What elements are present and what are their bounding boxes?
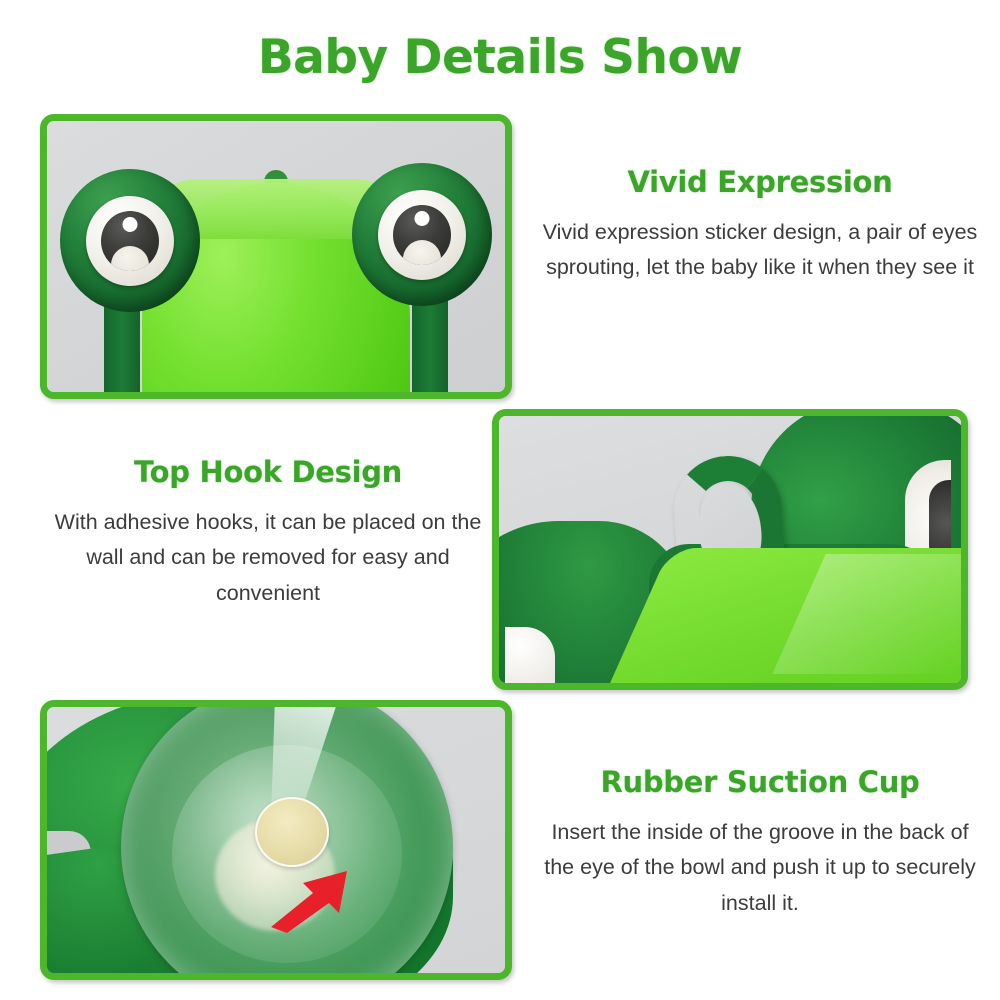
section-body-rubber-suction-cup: Insert the inside of the groove in the b… xyxy=(540,815,980,921)
frog-eye-right xyxy=(352,163,492,306)
top-hook-photo-inner xyxy=(499,416,961,683)
eye-crescent-left xyxy=(111,246,149,271)
section-body-top-hook-design: With adhesive hooks, it can be placed on… xyxy=(38,505,498,611)
details-page: Baby Details Show xyxy=(0,0,1000,1000)
eye-iris-left xyxy=(101,211,159,271)
section-vivid-expression: Vivid Expression Vivid expression sticke… xyxy=(540,165,980,286)
section-heading-vivid-expression: Vivid Expression xyxy=(540,165,980,199)
eye-ring-left xyxy=(86,196,174,286)
page-title: Baby Details Show xyxy=(0,30,1000,85)
frog-eye-left xyxy=(60,169,200,312)
eye-iris-right xyxy=(393,205,451,265)
suction-cup-photo-inner xyxy=(47,707,505,973)
section-rubber-suction-cup: Rubber Suction Cup Insert the inside of … xyxy=(540,765,980,921)
top-hook-photo xyxy=(492,409,968,690)
section-top-hook-design: Top Hook Design With adhesive hooks, it … xyxy=(38,455,498,611)
suction-cup-nub xyxy=(255,797,329,867)
eye-glint-right xyxy=(415,211,430,226)
frog-eyes-photo xyxy=(40,114,512,399)
eye-glint-left xyxy=(123,217,138,232)
suction-cup-photo xyxy=(40,700,512,980)
eye-ring-right xyxy=(378,190,466,280)
section-body-vivid-expression: Vivid expression sticker design, a pair … xyxy=(540,215,980,286)
section-heading-top-hook-design: Top Hook Design xyxy=(38,455,498,489)
red-arrow-icon xyxy=(269,867,353,933)
section-heading-rubber-suction-cup: Rubber Suction Cup xyxy=(540,765,980,799)
eye-crescent-right xyxy=(403,240,441,265)
frog-eyes-photo-inner xyxy=(47,121,505,392)
